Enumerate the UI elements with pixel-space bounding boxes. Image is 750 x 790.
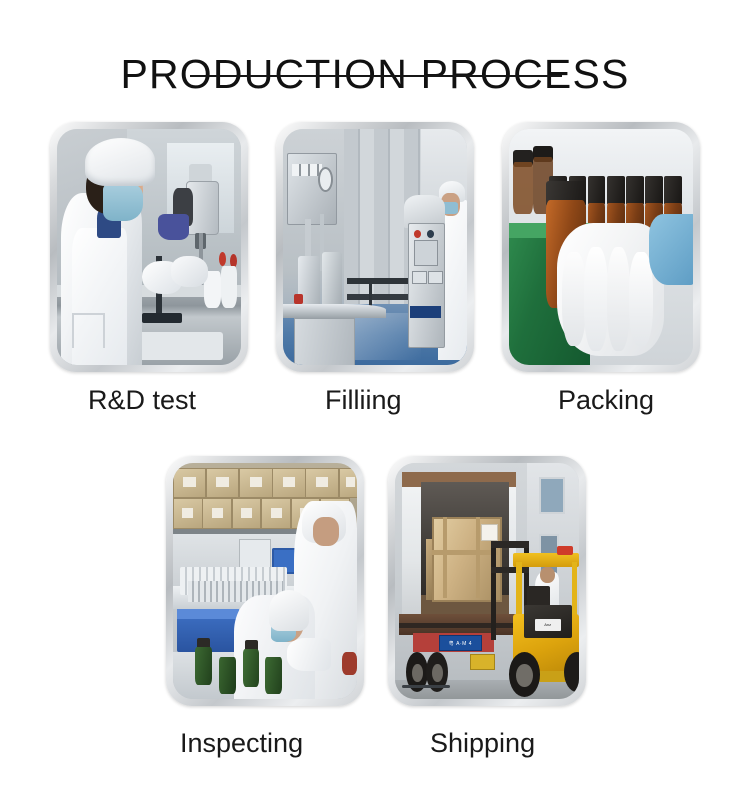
title-underline-rule xyxy=(190,75,562,77)
process-step-photo-filling xyxy=(283,129,467,365)
scene-filling xyxy=(283,129,467,365)
process-step-card-inspecting[interactable] xyxy=(166,456,364,706)
process-step-card-shipping[interactable]: 粤 A·M 4 Anz xyxy=(388,456,586,706)
process-step-card-rd-test[interactable] xyxy=(50,122,248,372)
process-step-photo-shipping: 粤 A·M 4 Anz xyxy=(395,463,579,699)
scene-shipping: 粤 A·M 4 Anz xyxy=(395,463,579,699)
process-step-label-packing: Packing xyxy=(558,385,654,416)
scene-rd-test xyxy=(57,129,241,365)
process-step-card-packing[interactable] xyxy=(502,122,700,372)
process-step-label-rd-test: R&D test xyxy=(88,385,196,416)
truck-license-plate: 粤 A·M 4 xyxy=(439,635,481,651)
process-step-photo-rd-test xyxy=(57,129,241,365)
process-step-label-shipping: Shipping xyxy=(430,728,535,759)
process-step-photo-packing xyxy=(509,129,693,365)
process-step-label-filling: Filliing xyxy=(325,385,402,416)
forklift-brand-label: Anz xyxy=(535,619,561,631)
process-step-card-filling[interactable] xyxy=(276,122,474,372)
scene-inspecting xyxy=(173,463,357,699)
process-step-photo-inspecting xyxy=(173,463,357,699)
process-step-label-inspecting: Inspecting xyxy=(180,728,303,759)
scene-packing xyxy=(509,129,693,365)
